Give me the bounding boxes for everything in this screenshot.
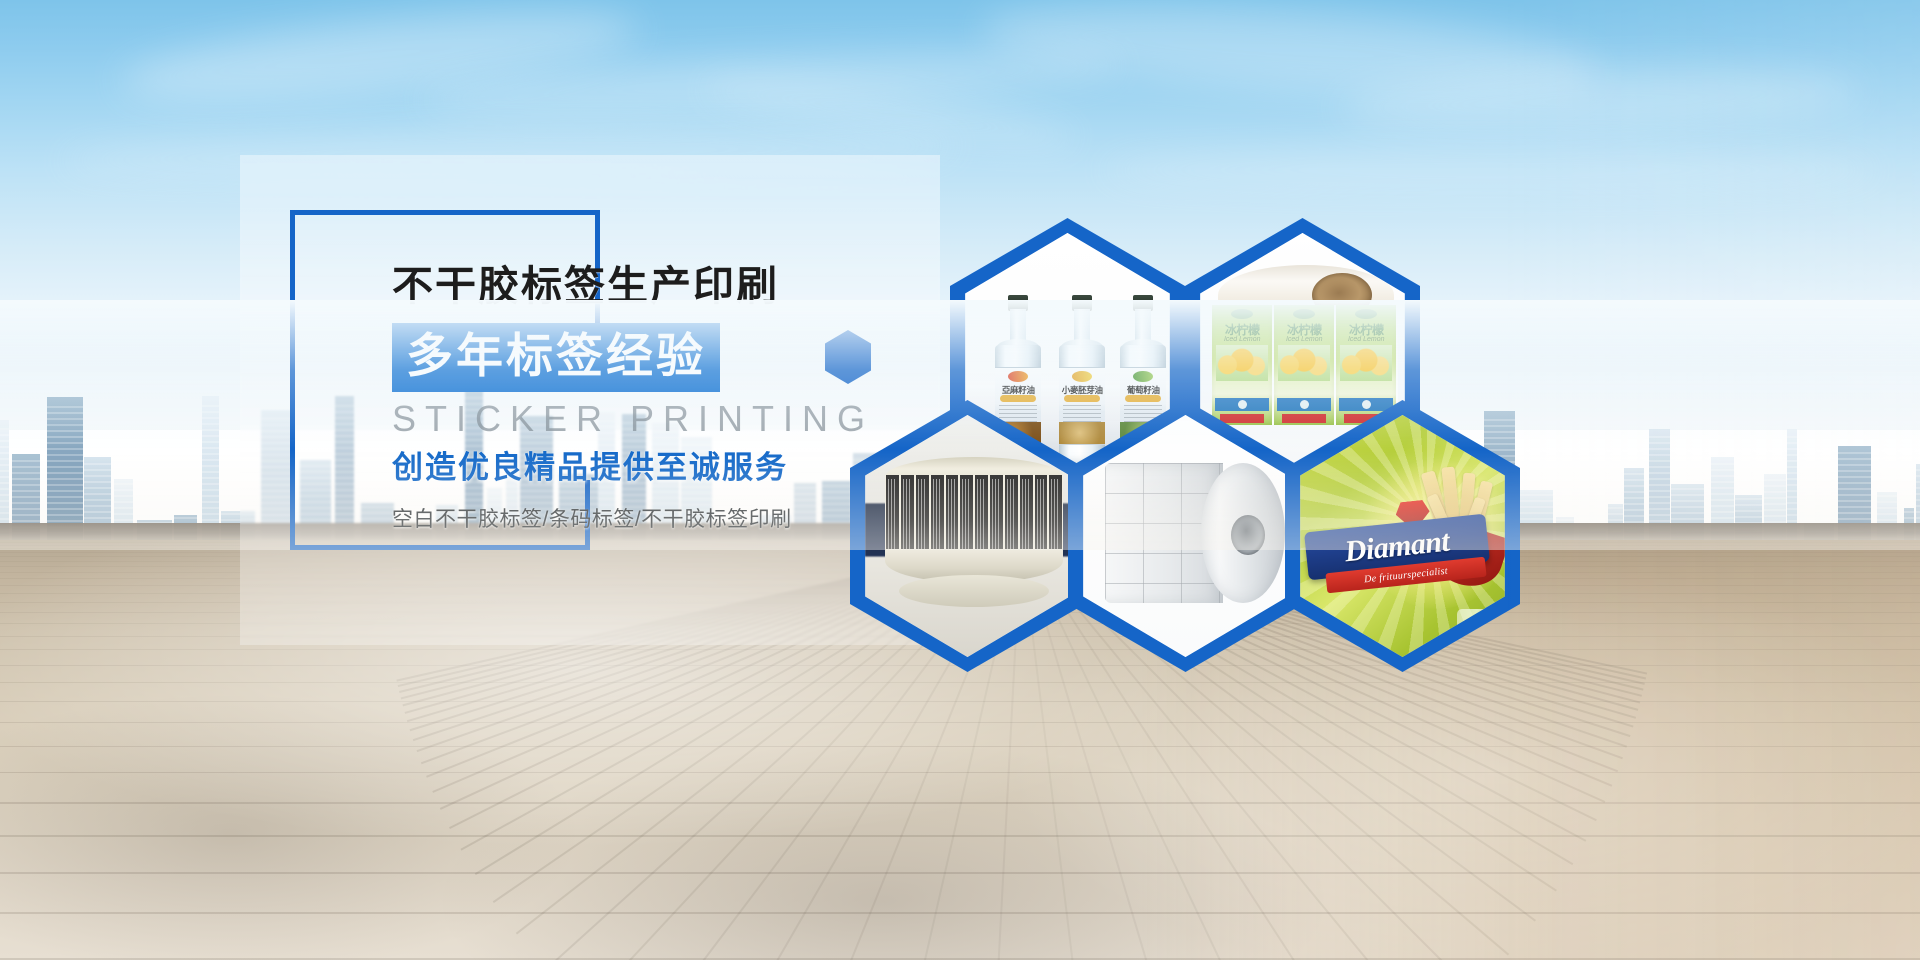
- cloud-wisp: [1100, 150, 1880, 190]
- bracket-top-line: [290, 210, 600, 215]
- atmospheric-haze: [0, 300, 1920, 550]
- city-skyline: [0, 300, 1920, 550]
- diamant-tagline: De frituurspecialist: [1364, 565, 1449, 585]
- promo-banner: 不干胶标签生产印刷 多年标签经验 STICKER PRINTING 创造优良精品…: [0, 0, 1920, 960]
